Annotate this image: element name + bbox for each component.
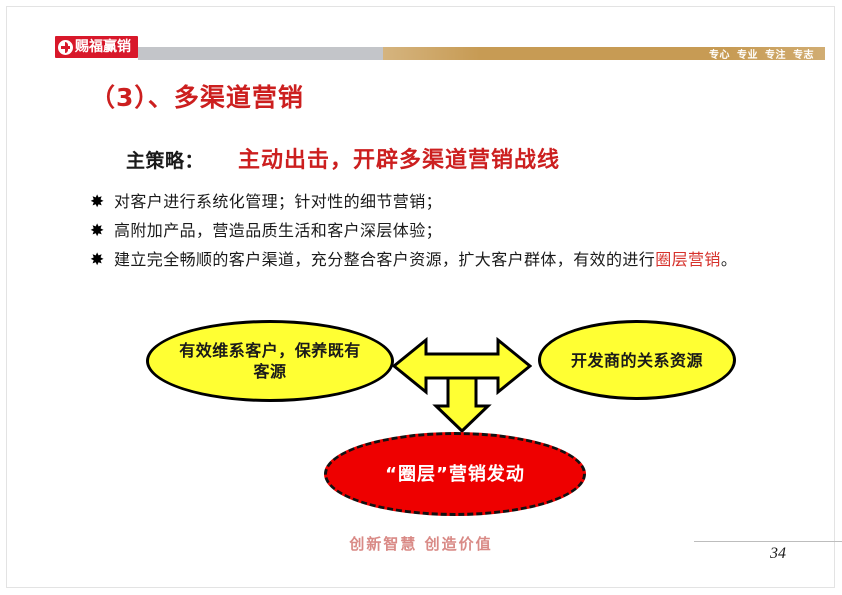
list-item-text-main: 高附加产品，营造品质生活和客户深层体验；	[114, 221, 442, 240]
list-item-text: 高附加产品，营造品质生活和客户深层体验；	[114, 219, 442, 243]
strategy-label: 主策略：	[126, 146, 204, 173]
page-number-rule	[694, 541, 842, 542]
list-item-text: 建立完全畅顺的客户渠道，充分整合客户资源，扩大客户群体，有效的进行圈层营销。	[114, 248, 737, 272]
header-slogan-item-1: 专业	[737, 46, 758, 61]
list-item: ✸ 建立完全畅顺的客户渠道，充分整合客户资源，扩大客户群体，有效的进行圈层营销。	[90, 248, 810, 272]
header-bar-gray	[138, 47, 383, 60]
star-icon: ✸	[90, 248, 114, 272]
strategy-row: 主策略： 主动出击，开辟多渠道营销战线	[126, 142, 560, 174]
footer-slogan: 创新智慧 创造价值	[0, 533, 842, 554]
list-item-text-highlight: 圈层营销	[655, 250, 721, 269]
logo-circle-icon	[58, 40, 73, 55]
slide: 赐福赢销 专心 专业 专注 专志 （3）、多渠道营销 主策略： 主动出击，开辟多…	[0, 0, 842, 595]
list-item-text-tail: 。	[721, 250, 737, 269]
header-slogan-item-3: 专志	[793, 46, 814, 61]
list-item-text-main: 建立完全畅顺的客户渠道，充分整合客户资源，扩大客户群体，有效的进行	[114, 250, 655, 269]
slide-header: 赐福赢销 专心 专业 专注 专志	[0, 0, 842, 72]
header-slogan: 专心 专业 专注 专志	[709, 46, 814, 60]
diagram-node-left-label: 有效维系客户，保养既有客源	[149, 340, 391, 382]
diagram-arrows	[392, 334, 532, 434]
header-slogan-item-2: 专注	[765, 46, 786, 61]
page-title: （3）、多渠道营销	[90, 78, 304, 114]
diagram-node-right-label: 开发商的关系资源	[547, 350, 727, 371]
list-item: ✸ 高附加产品，营造品质生活和客户深层体验；	[90, 219, 810, 243]
list-item-text: 对客户进行系统化管理；针对性的细节营销；	[114, 190, 442, 214]
brand-logo: 赐福赢销	[55, 36, 138, 58]
diagram-node-bottom: “圈层”营销发动	[324, 432, 586, 516]
diagram-node-bottom-label: “圈层”营销发动	[361, 464, 549, 485]
list-item: ✸ 对客户进行系统化管理；针对性的细节营销；	[90, 190, 810, 214]
diagram-node-right: 开发商的关系资源	[538, 320, 736, 400]
star-icon: ✸	[90, 219, 114, 243]
strategy-value: 主动出击，开辟多渠道营销战线	[238, 142, 560, 174]
list-item-text-main: 对客户进行系统化管理；针对性的细节营销；	[114, 192, 442, 211]
bullet-list: ✸ 对客户进行系统化管理；针对性的细节营销； ✸ 高附加产品，营造品质生活和客户…	[90, 190, 810, 277]
diagram-node-left: 有效维系客户，保养既有客源	[146, 320, 394, 402]
star-icon: ✸	[90, 190, 114, 214]
diagram: 有效维系客户，保养既有客源 开发商的关系资源 “圈层”营销发动	[0, 300, 842, 530]
page-number: 34	[770, 545, 786, 563]
logo-text: 赐福赢销	[75, 39, 131, 55]
header-slogan-item-0: 专心	[709, 46, 730, 61]
down-arrow-icon	[436, 378, 488, 431]
